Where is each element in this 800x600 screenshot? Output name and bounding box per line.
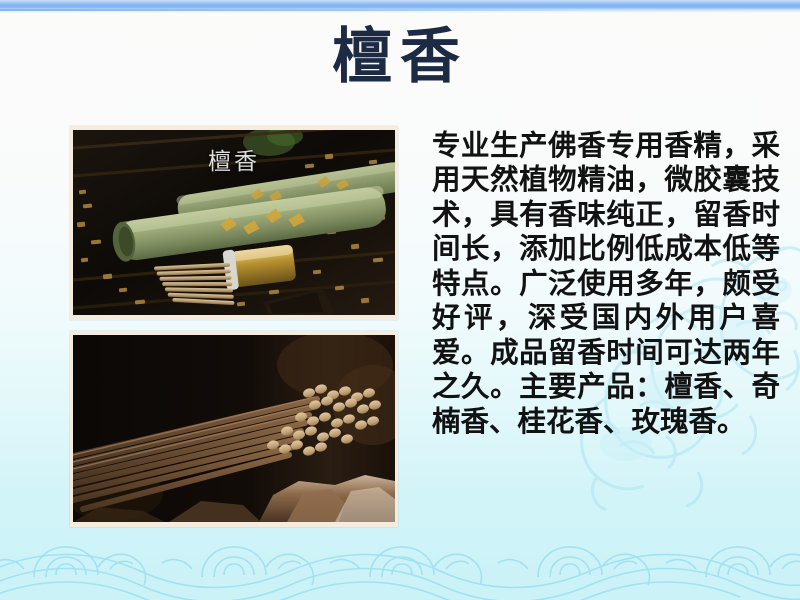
photo-frame-green-incense[interactable]: 檀香 — [70, 126, 398, 320]
body-paragraph: 专业生产佛香专用香精，采用天然植物精油，微胶囊技术，具有香味纯正，留香时间长，添… — [432, 128, 780, 438]
top-gradient-band-line — [0, 9, 800, 11]
brown-incense-sticks-photo[interactable] — [73, 335, 395, 522]
page-title: 檀香 — [0, 26, 800, 89]
slide-root: 檀香 — [0, 0, 800, 600]
photo-caption-label: 檀香 — [208, 142, 260, 176]
green-incense-tubes-photo[interactable]: 檀香 — [73, 130, 395, 315]
brown-incense-illustration — [73, 335, 395, 522]
photo-frame-brown-incense[interactable] — [70, 331, 398, 527]
top-gradient-band — [0, 0, 800, 13]
